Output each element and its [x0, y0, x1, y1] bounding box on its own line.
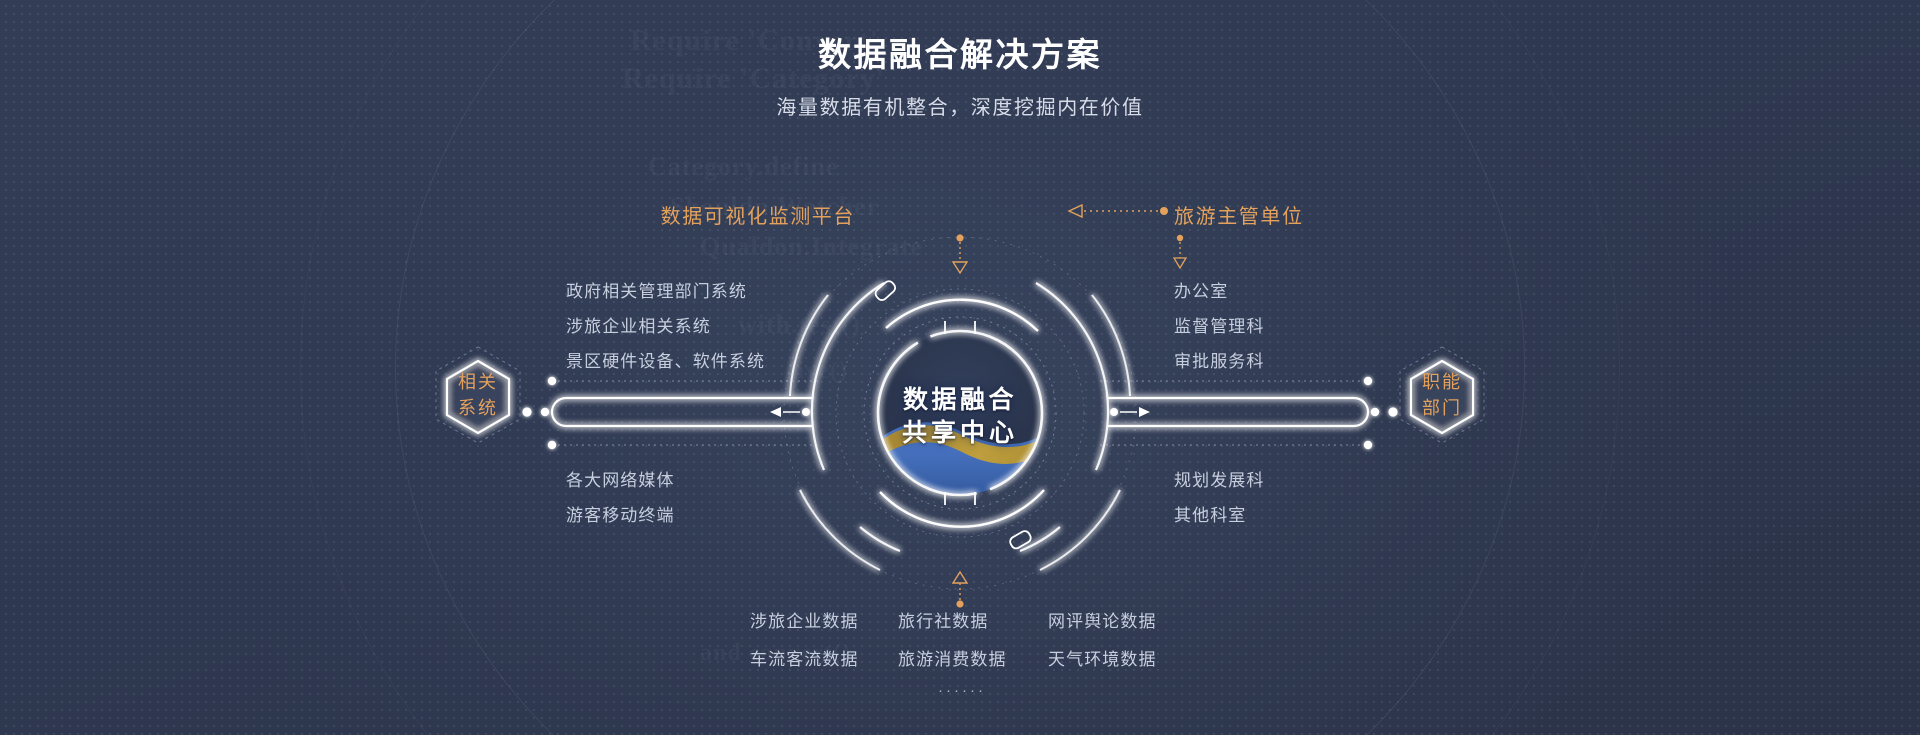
bottom-data-ellipsis: ······ [938, 682, 986, 699]
label-visualization-platform[interactable]: 数据可视化监测平台 [661, 200, 855, 229]
header: 数据融合解决方案 海量数据有机整合，深度挖掘内在价值 [0, 34, 1920, 120]
right-department-item[interactable]: 监督管理科 [1174, 312, 1265, 337]
right-department-item[interactable]: 审批服务科 [1174, 347, 1265, 372]
bottom-data-item[interactable]: 网评舆论数据 [1048, 607, 1157, 632]
center-hub-line1: 数据融合 [810, 384, 1110, 417]
left-node-label: 相关 系统 [418, 369, 538, 421]
bottom-data-item[interactable]: 旅游消费数据 [898, 645, 1007, 670]
left-source-item[interactable]: 涉旅企业相关系统 [566, 312, 711, 337]
left-source-item[interactable]: 游客移动终端 [566, 501, 675, 526]
left-source-item[interactable]: 景区硬件设备、软件系统 [566, 347, 765, 372]
right-connector-bundle [1100, 377, 1398, 449]
right-department-item[interactable]: 其他科室 [1174, 501, 1246, 526]
left-connector-bundle [522, 377, 820, 449]
bottom-data-item[interactable]: 旅行社数据 [898, 607, 989, 632]
center-hub-label: 数据融合 共享中心 [810, 384, 1110, 450]
right-department-item[interactable]: 规划发展科 [1174, 466, 1265, 491]
right-node-label-line2: 部门 [1382, 395, 1502, 421]
right-node-label-line1: 职能 [1382, 369, 1502, 395]
left-node-label-line2: 系统 [418, 395, 538, 421]
page-title: 数据融合解决方案 [0, 34, 1920, 75]
label-tourism-authority[interactable]: 旅游主管单位 [1174, 200, 1304, 229]
infographic-canvas: Require 'Convert' Require 'Category' Cat… [0, 0, 1920, 735]
left-node-label-line1: 相关 [418, 369, 538, 395]
bottom-data-item[interactable]: 涉旅企业数据 [750, 607, 859, 632]
vertical-orange-connector-top [953, 234, 967, 273]
right-node-label: 职能 部门 [1382, 369, 1502, 421]
bottom-data-item[interactable]: 车流客流数据 [750, 645, 859, 670]
vertical-orange-connector-top-right [1174, 235, 1186, 268]
right-department-item[interactable]: 办公室 [1174, 277, 1228, 302]
left-source-item[interactable]: 各大网络媒体 [566, 466, 675, 491]
bottom-data-item[interactable]: 天气环境数据 [1048, 645, 1157, 670]
page-subtitle: 海量数据有机整合，深度挖掘内在价值 [0, 91, 1920, 120]
left-source-item[interactable]: 政府相关管理部门系统 [566, 277, 747, 302]
center-hub-line2: 共享中心 [810, 417, 1110, 450]
vertical-orange-connector-bottom [953, 572, 967, 608]
top-horizontal-arrow [1069, 205, 1168, 217]
